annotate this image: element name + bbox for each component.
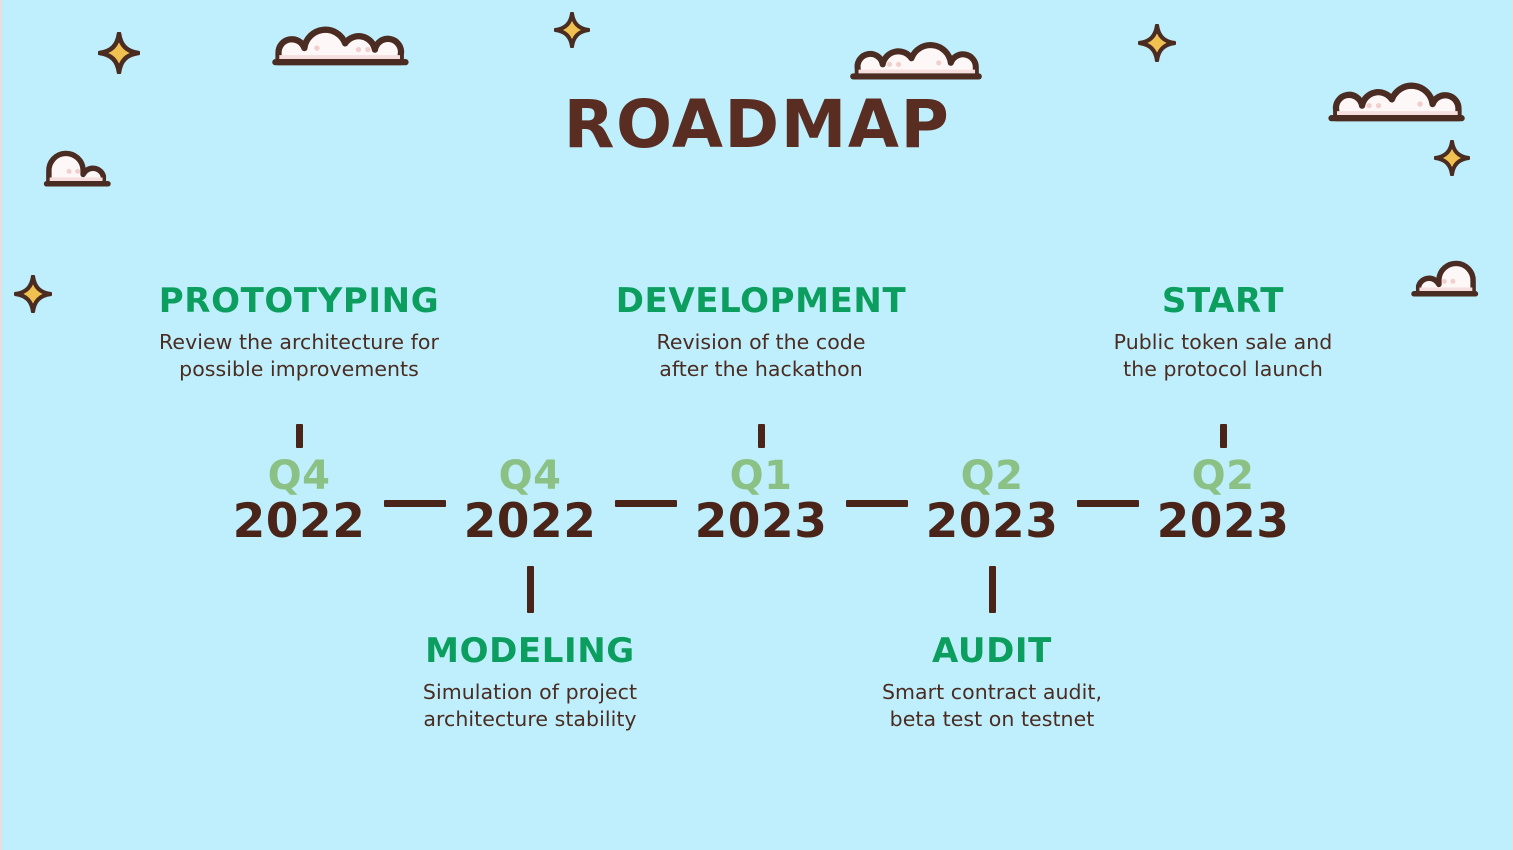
date-block-start: Q22023 bbox=[1107, 455, 1339, 548]
milestone-description-line2-start: the protocol launch bbox=[1073, 356, 1373, 383]
milestone-connector-prototyping bbox=[296, 424, 303, 448]
milestone-description-line2-development: after the hackathon bbox=[611, 356, 911, 383]
milestone-heading-start: START bbox=[1073, 284, 1373, 320]
milestone-description-line1-prototyping: Review the architecture for bbox=[149, 329, 449, 356]
milestone-connector-modeling bbox=[527, 566, 534, 613]
milestone-heading-audit: AUDIT bbox=[842, 634, 1142, 670]
date-block-prototyping: Q42022 bbox=[183, 455, 415, 548]
quarter-label-modeling: Q4 bbox=[414, 455, 646, 497]
milestone-heading-development: DEVELOPMENT bbox=[611, 284, 911, 320]
milestone-audit: AUDITSmart contract audit,beta test on t… bbox=[842, 634, 1142, 733]
quarter-label-development: Q1 bbox=[645, 455, 877, 497]
milestone-prototyping: PROTOTYPINGReview the architecture forpo… bbox=[149, 284, 449, 383]
milestone-connector-development bbox=[758, 424, 765, 448]
milestone-description-line1-start: Public token sale and bbox=[1073, 329, 1373, 356]
milestone-connector-start bbox=[1220, 424, 1227, 448]
year-label-audit: 2023 bbox=[876, 497, 1108, 548]
year-label-modeling: 2022 bbox=[414, 497, 646, 548]
milestone-description-line1-modeling: Simulation of project bbox=[380, 679, 680, 706]
date-block-modeling: Q42022 bbox=[414, 455, 646, 548]
quarter-label-prototyping: Q4 bbox=[183, 455, 415, 497]
quarter-label-audit: Q2 bbox=[876, 455, 1108, 497]
date-block-development: Q12023 bbox=[645, 455, 877, 548]
milestone-heading-modeling: MODELING bbox=[380, 634, 680, 670]
milestone-description-prototyping: Review the architecture forpossible impr… bbox=[149, 329, 449, 384]
milestone-heading-prototyping: PROTOTYPING bbox=[149, 284, 449, 320]
milestone-description-line2-prototyping: possible improvements bbox=[149, 356, 449, 383]
roadmap-canvas: ROADMAP PROTOTYPINGReview the architectu… bbox=[0, 0, 1513, 850]
year-label-development: 2023 bbox=[645, 497, 877, 548]
date-block-audit: Q22023 bbox=[876, 455, 1108, 548]
roadmap-timeline: PROTOTYPINGReview the architecture forpo… bbox=[2, 0, 1513, 850]
milestone-description-line2-audit: beta test on testnet bbox=[842, 706, 1142, 733]
milestone-description-modeling: Simulation of projectarchitecture stabil… bbox=[380, 679, 680, 734]
milestone-modeling: MODELINGSimulation of projectarchitectur… bbox=[380, 634, 680, 733]
milestone-description-line2-modeling: architecture stability bbox=[380, 706, 680, 733]
milestone-development: DEVELOPMENTRevision of the codeafter the… bbox=[611, 284, 911, 383]
year-label-prototyping: 2022 bbox=[183, 497, 415, 548]
year-label-start: 2023 bbox=[1107, 497, 1339, 548]
milestone-description-line1-development: Revision of the code bbox=[611, 329, 911, 356]
milestone-description-line1-audit: Smart contract audit, bbox=[842, 679, 1142, 706]
quarter-label-start: Q2 bbox=[1107, 455, 1339, 497]
milestone-description-start: Public token sale andthe protocol launch bbox=[1073, 329, 1373, 384]
milestone-description-development: Revision of the codeafter the hackathon bbox=[611, 329, 911, 384]
milestone-description-audit: Smart contract audit,beta test on testne… bbox=[842, 679, 1142, 734]
milestone-connector-audit bbox=[989, 566, 996, 613]
milestone-start: STARTPublic token sale andthe protocol l… bbox=[1073, 284, 1373, 383]
